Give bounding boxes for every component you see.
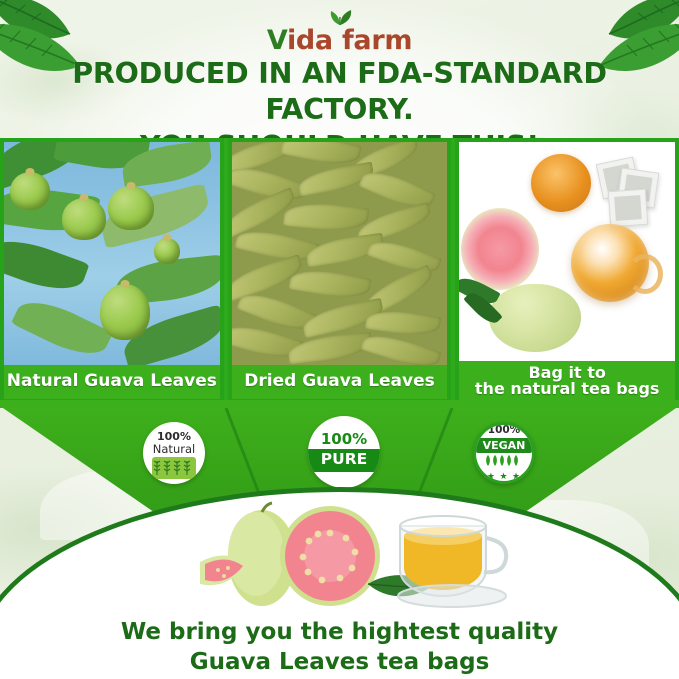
footer-tagline-line-2: Guava Leaves tea bags xyxy=(0,648,679,678)
footer-tagline-line-1: We bring you the hightest quality xyxy=(0,618,679,648)
infographic-canvas: Vida farm PRODUCED IN AN FDA-STANDARD FA… xyxy=(0,0,679,679)
panel-dried-guava-leaves: Dried Guava Leaves xyxy=(228,138,456,403)
tea-bag-icon xyxy=(608,189,648,228)
footer-tagline: We bring you the hightest quality Guava … xyxy=(0,618,679,678)
leaf-sprigs-icon xyxy=(484,453,524,471)
panel-caption-text-line2: the natural tea bags xyxy=(475,381,660,397)
panel-natural-guava-leaves: Natural Guava Leaves xyxy=(0,138,228,403)
panel-caption-text: Natural Guava Leaves xyxy=(7,373,217,391)
badge-vegan: 100% VEGAN ★ ★ ★ xyxy=(473,422,535,484)
badge-label: VEGAN xyxy=(476,438,533,453)
badge-natural: 100% Natural xyxy=(143,422,205,484)
glass-teapot-icon xyxy=(571,224,649,302)
badge-percent: 100% xyxy=(488,425,520,436)
badge-percent: 100% xyxy=(157,431,191,442)
guava-whole-icon xyxy=(489,284,581,352)
brand-logo: Vida farm xyxy=(0,4,679,54)
badge-percent: 100% xyxy=(321,432,367,447)
footer-product-image xyxy=(0,500,679,612)
headline-line-1: PRODUCED IN AN FDA-STANDARD FACTORY. xyxy=(72,57,607,126)
badge-stars: ★ ★ ★ xyxy=(487,472,521,481)
badge-label: Natural xyxy=(153,443,195,455)
badge-pure: 100% PURE xyxy=(308,416,380,488)
panel-photo-tea-set xyxy=(459,142,675,365)
brand-name: Vida farm xyxy=(0,27,679,54)
tea-cup-topdown-icon xyxy=(531,154,591,212)
brand-name-rest: ida farm xyxy=(287,25,412,56)
leaf-sprout-icon xyxy=(323,4,357,26)
panel-caption: Dried Guava Leaves xyxy=(232,365,448,399)
wheat-field-icon xyxy=(152,457,196,479)
process-panels: Natural Guava Leaves xyxy=(0,138,679,403)
panel-caption: Natural Guava Leaves xyxy=(4,365,220,399)
panel-caption-text: Dried Guava Leaves xyxy=(244,373,435,391)
panel-photo-guava-tree xyxy=(4,142,220,365)
panel-natural-tea-bags: Bag it to the natural tea bags xyxy=(455,138,679,403)
panel-caption: Bag it to the natural tea bags xyxy=(459,361,675,401)
guava-half-icon xyxy=(461,208,539,290)
panel-photo-dried-leaves xyxy=(232,142,448,365)
brand-name-initial: V xyxy=(267,25,287,56)
badge-label: PURE xyxy=(308,449,380,473)
